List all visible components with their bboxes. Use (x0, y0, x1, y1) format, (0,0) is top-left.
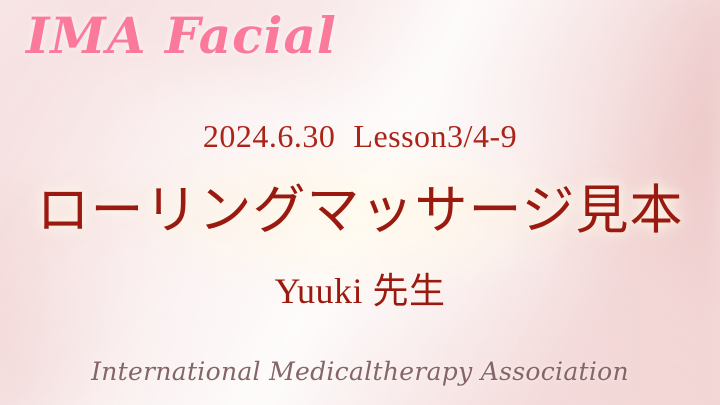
lesson-date: 2024.6.30 (203, 118, 336, 154)
title-slide: IMA Facial 2024.6.30Lesson3/4-9 ローリングマッサ… (0, 0, 720, 405)
presenter-name: Yuuki 先生 (0, 262, 720, 314)
brand-logo: IMA Facial (26, 6, 337, 65)
organization-footer: International Medicaltherapy Association (0, 357, 720, 386)
slide-content: IMA Facial 2024.6.30Lesson3/4-9 ローリングマッサ… (0, 0, 720, 405)
lesson-code: Lesson3/4-9 (353, 118, 517, 154)
lesson-info-line: 2024.6.30Lesson3/4-9 (0, 118, 720, 155)
slide-headline: ローリングマッサージ見本 (0, 184, 720, 240)
